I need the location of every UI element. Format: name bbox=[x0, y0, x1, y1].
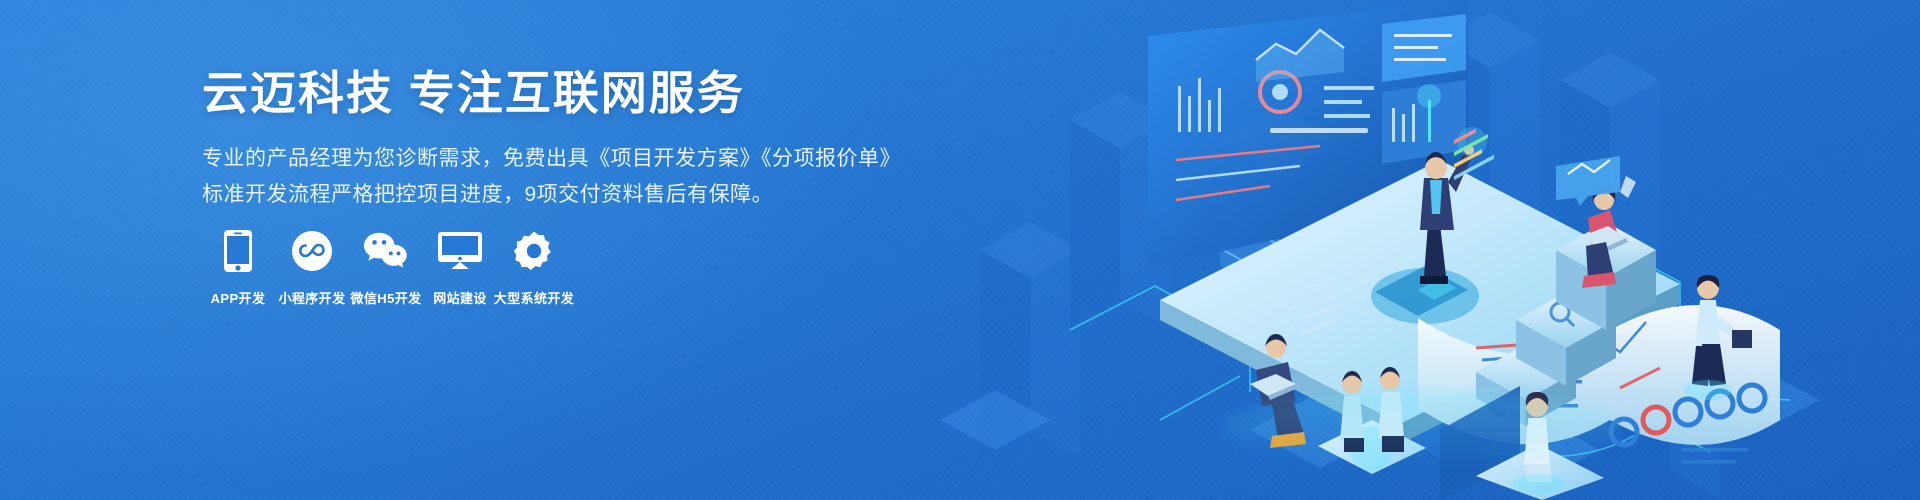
service-list: APP开发 小程序开发 微信 bbox=[202, 228, 572, 307]
hero-copy: 云迈科技 专注互联网服务 专业的产品经理为您诊断需求，免费出具《项目开发方案》《… bbox=[202, 66, 902, 212]
service-item-website[interactable]: 网站建设 bbox=[424, 228, 496, 307]
service-label: 小程序开发 bbox=[278, 288, 345, 307]
mini-program-icon bbox=[289, 228, 335, 274]
monitor-icon bbox=[437, 228, 483, 274]
subtitle-line-2: 标准开发流程严格把控项目进度，9项交付资料售后有保障。 bbox=[202, 178, 902, 212]
page-title: 云迈科技 专注互联网服务 bbox=[202, 66, 902, 120]
service-item-app[interactable]: APP开发 bbox=[202, 228, 274, 307]
gear-icon bbox=[511, 228, 557, 274]
service-label: 大型系统开发 bbox=[494, 288, 574, 307]
service-label: APP开发 bbox=[211, 288, 266, 307]
service-label: 微信H5开发 bbox=[350, 288, 421, 307]
service-item-wechat-h5[interactable]: 微信H5开发 bbox=[350, 228, 422, 307]
service-item-miniprogram[interactable]: 小程序开发 bbox=[276, 228, 348, 307]
isometric-tech-illustration bbox=[920, 0, 1920, 500]
hero-banner: 云迈科技 专注互联网服务 专业的产品经理为您诊断需求，免费出具《项目开发方案》《… bbox=[0, 0, 1920, 500]
service-item-large-system[interactable]: 大型系统开发 bbox=[498, 228, 570, 307]
mobile-phone-icon bbox=[215, 228, 261, 274]
subtitle-line-1: 专业的产品经理为您诊断需求，免费出具《项目开发方案》《分项报价单》 bbox=[202, 142, 902, 176]
wechat-icon bbox=[363, 228, 409, 274]
service-label: 网站建设 bbox=[433, 288, 487, 307]
